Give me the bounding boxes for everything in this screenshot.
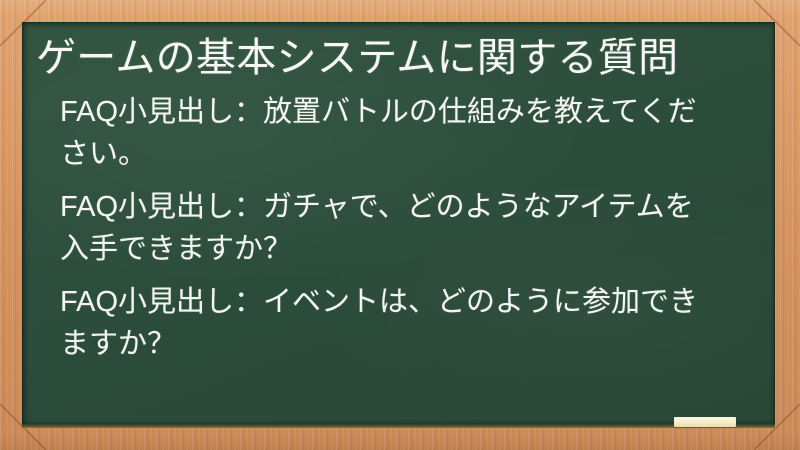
board-content: ゲームの基本システムに関する質問 FAQ小見出し：放置バトルの仕組みを教えてくだ… [22, 22, 775, 426]
chalkboard-bottom-edge [22, 424, 775, 428]
chalkboard-surface: ゲームの基本システムに関する質問 FAQ小見出し：放置バトルの仕組みを教えてくだ… [22, 22, 775, 426]
page-title: ゲームの基本システムに関する質問 [36, 31, 757, 85]
blackboard-frame: ゲームの基本システムに関する質問 FAQ小見出し：放置バトルの仕組みを教えてくだ… [0, 0, 800, 450]
list-item: FAQ小見出し：放置バトルの仕組みを教えてください。 [36, 91, 757, 175]
faq-list: FAQ小見出し：放置バトルの仕組みを教えてください。 FAQ小見出し：ガチャで、… [36, 91, 757, 365]
list-item: FAQ小見出し：ガチャで、どのようなアイテムを入手できますか？ [36, 186, 757, 270]
chalk-stick-icon [674, 417, 736, 427]
list-item: FAQ小見出し：イベントは、どのように参加できますか？ [36, 281, 757, 365]
